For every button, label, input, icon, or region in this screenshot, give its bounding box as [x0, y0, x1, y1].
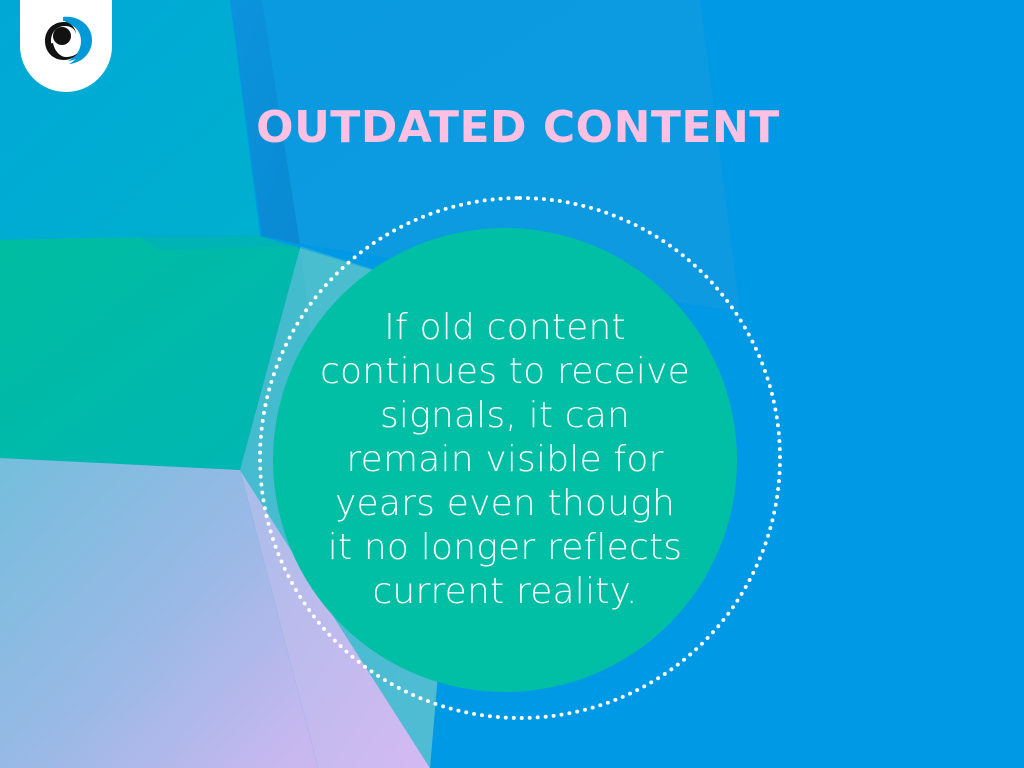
brand-logo-icon [37, 10, 97, 70]
slide-canvas: If old content continues to receive sign… [0, 0, 1024, 768]
brand-logo-badge[interactable] [20, 0, 112, 92]
content-circle: If old content continues to receive sign… [273, 228, 737, 692]
page-title: OUTDATED CONTENT [0, 105, 1024, 151]
circle-body-text: If old content continues to receive sign… [305, 306, 705, 613]
